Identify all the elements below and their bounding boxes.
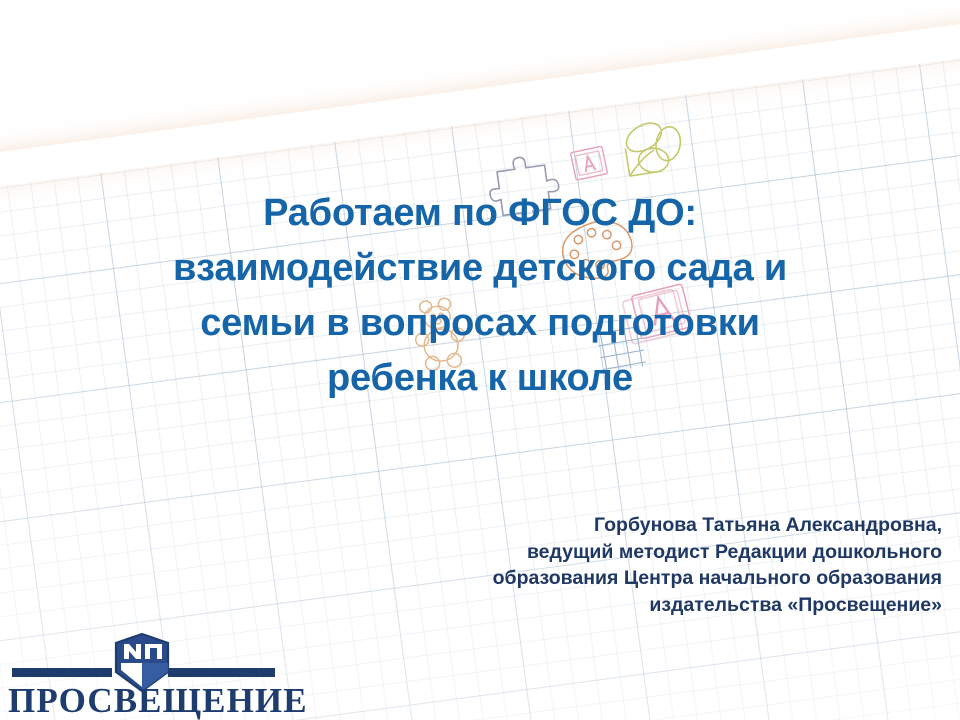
logo-wordmark: ПРОСВЕЩЕНИЕ bbox=[8, 681, 290, 720]
logo-bar-right bbox=[168, 668, 275, 677]
presenter-credits: Горбунова Татьяна Александровна, ведущий… bbox=[322, 512, 942, 618]
slide-title: Работаем по ФГОС ДО: взаимодействие детс… bbox=[110, 186, 850, 406]
logo-bar-left bbox=[12, 668, 112, 677]
presentation-slide: Работаем по ФГОС ДО: взаимодействие детс… bbox=[0, 0, 960, 720]
flower-leaf-doodle bbox=[614, 114, 694, 186]
prosveshchenie-logo: ПРОСВЕЩЕНИЕ bbox=[8, 634, 298, 720]
letter-block-a-small-doodle bbox=[566, 141, 614, 185]
paper-scalloped-edge bbox=[0, 0, 960, 204]
